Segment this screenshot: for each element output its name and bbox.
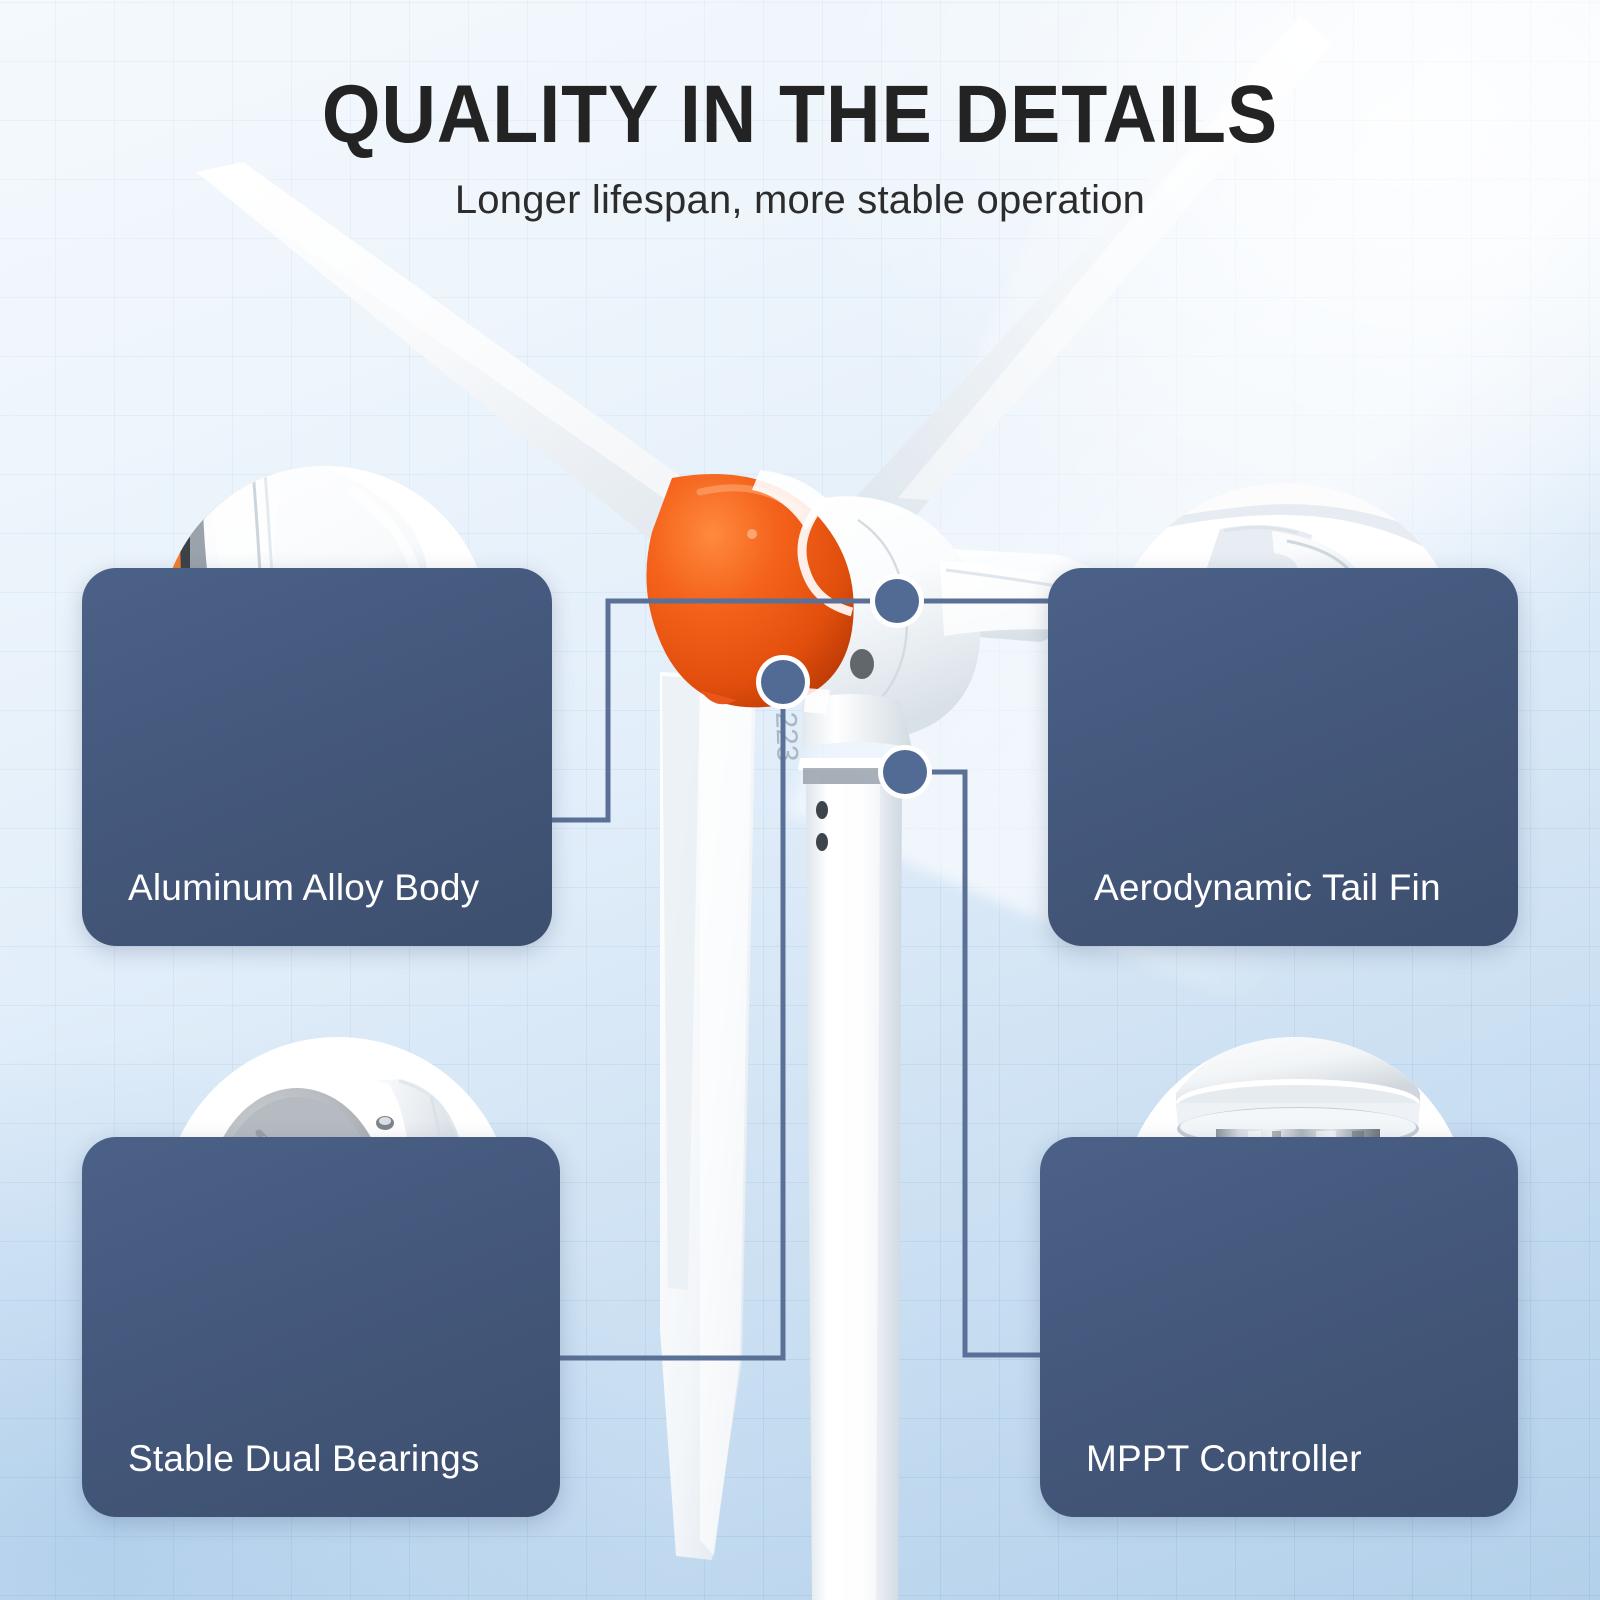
feature-card-aluminum-alloy-body[interactable]: Aluminum Alloy Body [82, 568, 552, 946]
page-title: QUALITY IN THE DETAILS [64, 74, 1536, 156]
feature-card-mppt-controller[interactable]: MPPT Controller [1040, 1137, 1518, 1517]
feature-label-stable-dual-bearings: Stable Dual Bearings [82, 1401, 560, 1517]
feature-label-aluminum-alloy-body: Aluminum Alloy Body [82, 830, 552, 946]
feature-card-stable-dual-bearings[interactable]: Stable Dual Bearings [82, 1137, 560, 1517]
feature-label-aerodynamic-tail-fin: Aerodynamic Tail Fin [1048, 830, 1518, 946]
feature-label-mppt-controller: MPPT Controller [1040, 1401, 1518, 1517]
header-block: QUALITY IN THE DETAILS Longer lifespan, … [0, 74, 1600, 223]
page-subtitle: Longer lifespan, more stable operation [0, 178, 1600, 223]
infographic-canvas: QUALITY IN THE DETAILS Longer lifespan, … [0, 0, 1600, 1600]
feature-card-aerodynamic-tail-fin[interactable]: Aerodynamic Tail Fin [1048, 568, 1518, 946]
